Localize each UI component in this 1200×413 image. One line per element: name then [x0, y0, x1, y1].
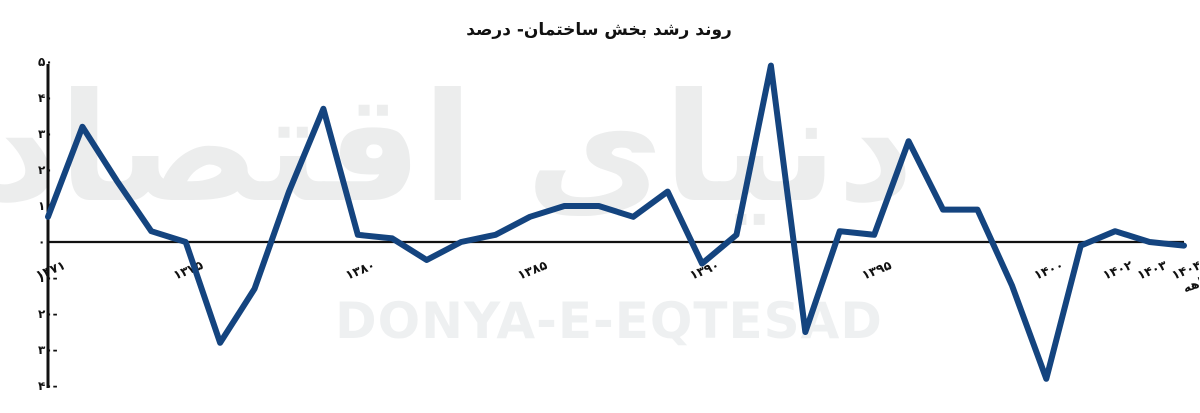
- x-tick-label: ۱۴۰۳: [1136, 257, 1170, 282]
- chart-root: دنیای اقتصاد DONYA-E-EQTESAD روند رشد بخ…: [0, 0, 1200, 413]
- y-tick-label: -۳۰: [39, 343, 59, 357]
- x-tick-label: ۱۴۰۰: [1033, 257, 1067, 282]
- y-tick-label: ۰: [39, 235, 46, 249]
- x-tick-label: ۱۳۹۵: [861, 257, 895, 282]
- x-tick-label: ۱۴۰۲: [1102, 257, 1136, 282]
- y-tick-label: -۲۰: [39, 307, 59, 321]
- x-tick-label: ۱۳۸۰: [344, 257, 378, 282]
- y-tick-label: ۵۰: [39, 55, 54, 69]
- line-chart-plot: ۵۰۴۰۳۰۲۰۱۰۰-۱۰-۲۰-۳۰-۴۰ ۱۳۷۱۱۳۷۵۱۳۸۰۱۳۸۵…: [0, 0, 1200, 413]
- y-tick-label: ۲۰: [39, 163, 54, 177]
- x-tick-label: ۱۳۸۵: [516, 257, 550, 282]
- y-axis: ۵۰۴۰۳۰۲۰۱۰۰-۱۰-۲۰-۳۰-۴۰: [39, 55, 59, 393]
- x-axis: ۱۳۷۱۱۳۷۵۱۳۸۰۱۳۸۵۱۳۹۰۱۳۹۵۱۴۰۰۱۴۰۲۱۴۰۳۱۴۰۴…: [34, 242, 1200, 296]
- y-tick-label: -۴۰: [39, 379, 59, 393]
- y-tick-label: ۳۰: [39, 127, 54, 141]
- y-tick-label: ۴۰: [39, 91, 54, 105]
- data-series: [49, 66, 1185, 379]
- series-line-construction-growth: [49, 66, 1185, 379]
